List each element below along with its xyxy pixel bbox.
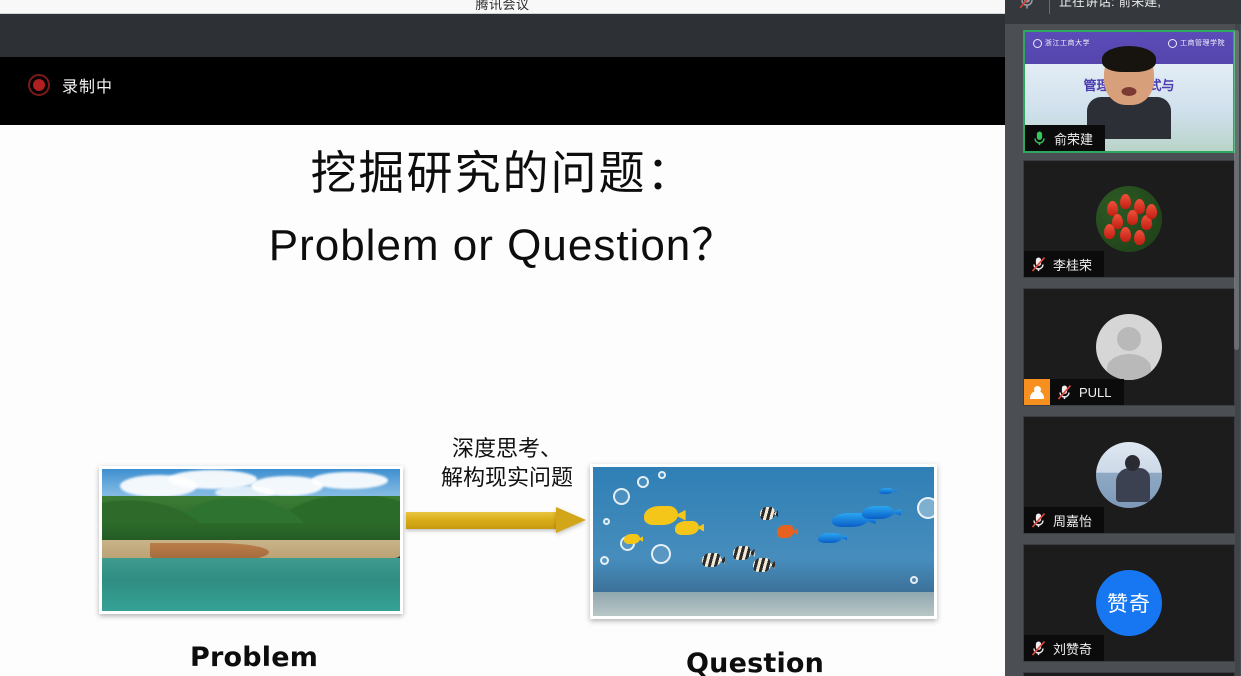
participant-name: 周嘉怡 [1053,511,1092,530]
strip-divider [1049,0,1050,14]
window-titlebar: 腾讯会议 [0,0,1005,14]
participant-tile-zhoujiayi[interactable]: 周嘉怡 [1023,416,1235,534]
participant-name: PULL [1079,385,1112,400]
speaking-status-strip: 正在讲话: 俞荣建, [1005,0,1241,24]
window-controls-icon[interactable] [1183,0,1239,14]
caption-question: Question [686,648,824,676]
participant-name: 李桂荣 [1053,255,1092,274]
stage-letterbox [0,14,1005,57]
participant-name: 俞荣建 [1054,129,1093,148]
university-logo-right-icon: 工商管理学院 [1168,38,1225,48]
participant-name-chip: 周嘉怡 [1024,507,1104,533]
reservoir-photo [99,466,403,614]
presentation-slide: 挖掘研究的问题： Problem or Question？ 深度思考、 解构现实… [0,125,1005,676]
participant-tile-liuzanqi[interactable]: 赞奇 刘赞奇 [1023,544,1235,662]
mic-muted-icon [1031,512,1046,529]
participant-rail[interactable]: 浙江工商大学 工商管理学院 管理研究范式与 [1005,24,1241,676]
host-person-icon [1024,379,1050,405]
participant-name-chip: PULL [1024,379,1124,405]
caption-problem: Problem [190,642,318,673]
participant-name-chip: 李桂荣 [1024,251,1104,277]
speaking-now-label: 正在讲话: 俞荣建, [1059,0,1161,10]
mic-muted-icon [1031,256,1046,273]
tencent-meeting-window: 腾讯会议 正在讲话: 俞荣建, 录制中 [0,0,1241,676]
slide-title-chinese: 挖掘研究的问题： [0,137,1005,203]
participant-tile-pull[interactable]: PULL [1023,288,1235,406]
slide-title-english: Problem or Question？ [0,209,1005,273]
participant-tile-liguirong[interactable]: 李桂荣 [1023,160,1235,278]
mic-muted-icon [1057,384,1072,401]
right-arrow-icon [406,507,590,533]
mic-muted-icon [1031,640,1046,657]
participant-tile-yurongjian[interactable]: 浙江工商大学 工商管理学院 管理研究范式与 [1023,30,1235,153]
participant-name: 刘赞奇 [1053,639,1092,658]
participant-rail-scrollbar[interactable] [1235,24,1240,676]
shared-screen-stage[interactable]: 录制中 挖掘研究的问题： Problem or Question？ [0,14,1005,676]
scrollbar-thumb[interactable] [1234,30,1239,350]
avatar [1096,186,1162,252]
speaker-video-person [1087,49,1171,135]
participant-name-chip: 刘赞奇 [1024,635,1104,661]
arrow-annotation-label: 深度思考、 解构现实问题 [412,435,602,494]
avatar: 赞奇 [1096,570,1162,636]
participant-tile-next[interactable] [1023,672,1235,676]
university-logo-left-icon: 浙江工商大学 [1033,38,1090,48]
mic-muted-icon [1017,0,1037,12]
recording-banner: 录制中 [0,57,1005,125]
record-dot-icon [28,74,50,96]
mic-on-icon [1032,130,1047,147]
participant-name-chip: 俞荣建 [1025,125,1105,151]
avatar [1096,314,1162,380]
recording-label: 录制中 [62,73,113,97]
underwater-photo [590,464,937,619]
app-title: 腾讯会议 [0,0,1005,13]
avatar [1096,442,1162,508]
